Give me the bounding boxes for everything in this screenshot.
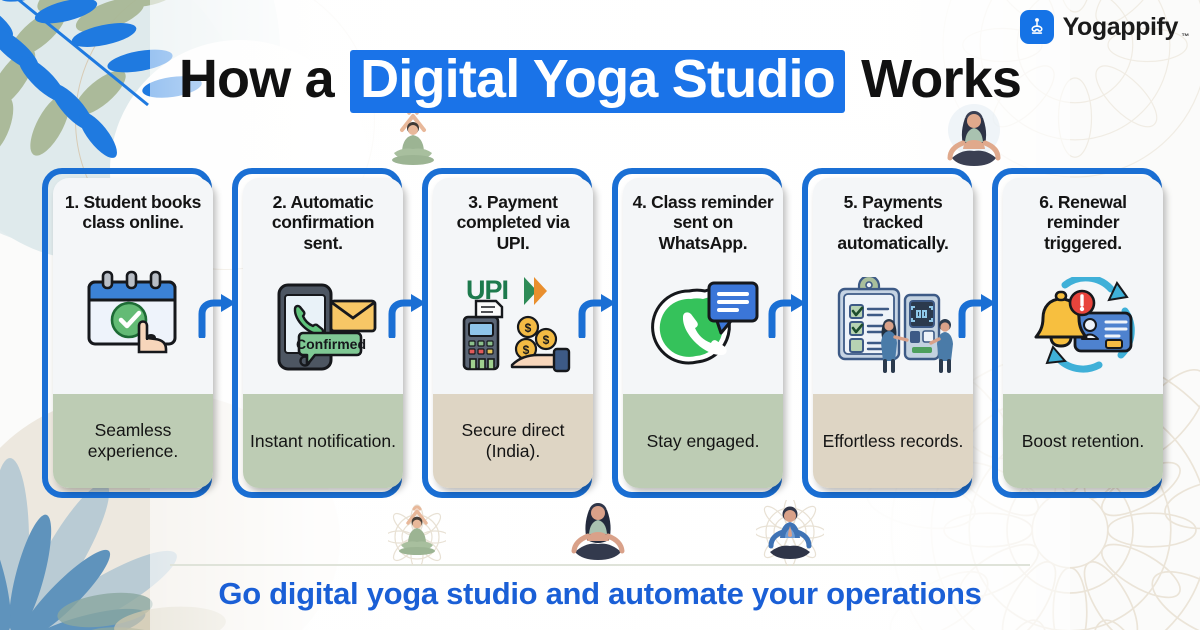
title-before: How a [179,49,334,109]
step-card-4[interactable]: 4. Class reminder sent on WhatsApp. Stay… [623,178,783,488]
steps-row: 1. Student books class online. Seamless … [42,168,1190,498]
curved-right-arrow-icon [196,292,240,338]
step-card-6[interactable]: 6. Renewal reminder triggered. [1003,178,1163,488]
step-footer-3: Secure direct (India). [433,394,593,488]
brand-logo[interactable]: Yogappify ™ [1020,10,1178,44]
svg-text:$: $ [543,333,550,347]
step-card-2[interactable]: 2. Automatic confirmation sent. Confirme… [243,178,403,488]
step-card-5[interactable]: 5. Payments tracked automatically. [813,178,973,488]
yoga-lotus-arms-up-green-figure [382,106,444,176]
svg-text:Confirmed: Confirmed [296,336,366,352]
curved-right-arrow-icon [386,292,430,338]
step-slot-2: 2. Automatic confirmation sent. Confirme… [232,168,422,498]
trademark-symbol: ™ [1181,32,1189,41]
brand-name: Yogappify [1063,13,1178,41]
step-slot-1: 1. Student books class online. Seamless … [42,168,232,498]
curved-right-arrow-icon [766,292,810,338]
whatsapp-chat-bubble-icon [623,257,783,394]
step-slot-4: 4. Class reminder sent on WhatsApp. Stay… [612,168,802,498]
yoga-lotus-meditating-woman-figure [562,494,634,566]
yoga-lotus-namaste-man-figure [756,500,824,566]
svg-text:$: $ [525,321,532,335]
brand-name-wrap: Yogappify ™ [1063,13,1178,42]
footer-tagline: Go digital yoga studio and automate your… [0,576,1200,612]
phone-envelope-confirmed-icon: Confirmed [243,257,403,394]
step-heading-2: 2. Automatic confirmation sent. [243,178,403,257]
page-title: How a Digital Yoga Studio Works [0,48,1200,113]
step-heading-1: 1. Student books class online. [53,178,213,237]
step-slot-3: 3. Payment completed via UPI. UPI [422,168,612,498]
step-footer-5: Effortless records. [813,394,973,488]
step-card-3[interactable]: 3. Payment completed via UPI. UPI [433,178,593,488]
yoga-lotus-arms-up-green-figure [388,503,446,565]
step-slot-5: 5. Payments tracked automatically. [802,168,992,498]
clipboard-checklist-kiosk-icon [813,257,973,394]
step-slot-6: 6. Renewal reminder triggered. [992,168,1182,498]
step-footer-2: Instant notification. [243,394,403,488]
person-left [881,319,907,371]
step-heading-6: 6. Renewal reminder triggered. [1003,178,1163,257]
step-heading-4: 4. Class reminder sent on WhatsApp. [623,178,783,257]
meditating-person-icon [1020,10,1054,44]
step-footer-1: Seamless experience. [53,394,213,488]
curved-right-arrow-icon [576,292,620,338]
title-after: Works [861,49,1021,109]
bell-alert-membership-card-renew-icon [1003,257,1163,394]
step-heading-3: 3. Payment completed via UPI. [433,178,593,257]
curved-right-arrow-icon [956,292,1000,338]
step-heading-5: 5. Payments tracked automatically. [813,178,973,257]
step-footer-6: Boost retention. [1003,394,1163,488]
calendar-check-hand-icon [53,237,213,394]
upi-pos-terminal-coins-hand-icon: UPI [433,257,593,394]
step-footer-4: Stay engaged. [623,394,783,488]
step-card-1[interactable]: 1. Student books class online. Seamless … [53,178,213,488]
title-highlight: Digital Yoga Studio [350,50,845,113]
